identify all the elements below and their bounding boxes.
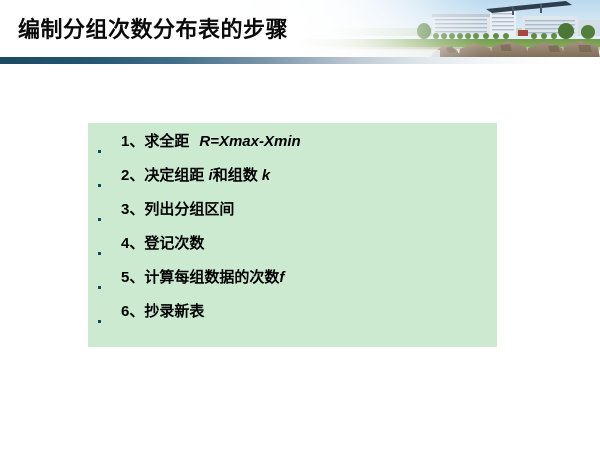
step-label: 求全距 [144, 133, 189, 150]
list-item: 4、登记次数 [88, 236, 497, 270]
bullet-icon [98, 320, 112, 323]
step-label: 决定组距 [144, 167, 204, 184]
step-label: 抄录新表 [144, 303, 204, 320]
bullet-icon [98, 184, 112, 187]
page-title: 编制分组次数分布表的步骤 [18, 19, 288, 41]
step-number: 5、 [121, 269, 144, 286]
list-item: 1、求全距R=Xmax-Xmin [88, 134, 497, 168]
list-item: 5、计算每组数据的次数f [88, 270, 497, 304]
step-number: 2、 [121, 167, 144, 184]
list-item: 3、列出分组区间 [88, 202, 497, 236]
list-item-text: 2、决定组距 i和组数 k [112, 168, 270, 183]
step-suffix: 和组数 [213, 167, 258, 184]
list-item: 6、抄录新表 [88, 304, 497, 338]
step-number: 4、 [121, 235, 144, 252]
step-formula: R=Xmax-Xmin [199, 133, 300, 150]
list-item-text: 5、计算每组数据的次数f [112, 270, 284, 285]
list-item-text: 6、抄录新表 [112, 304, 204, 319]
step-formula-2: k [262, 167, 270, 184]
step-label: 列出分组区间 [144, 201, 234, 218]
slide-canvas: 编制分组次数分布表的步骤 1、求全距R=Xmax-Xmin 2、决定组距 i和组… [0, 0, 600, 450]
list-item-text: 4、登记次数 [112, 236, 204, 251]
step-label: 计算每组数据的次数 [144, 269, 279, 286]
list-item: 2、决定组距 i和组数 k [88, 168, 497, 202]
step-number: 6、 [121, 303, 144, 320]
steps-list: 1、求全距R=Xmax-Xmin 2、决定组距 i和组数 k 3、列出分组区间 … [88, 123, 497, 338]
step-label: 登记次数 [144, 235, 204, 252]
bullet-icon [98, 218, 112, 221]
steps-panel: 1、求全距R=Xmax-Xmin 2、决定组距 i和组数 k 3、列出分组区间 … [88, 123, 497, 347]
list-item-text: 3、列出分组区间 [112, 202, 234, 217]
bullet-icon [98, 252, 112, 255]
bullet-icon [98, 150, 112, 153]
header-divider-rule [0, 57, 600, 64]
step-formula: f [279, 269, 284, 286]
step-number: 3、 [121, 201, 144, 218]
step-number: 1、 [121, 133, 144, 150]
list-item-text: 1、求全距R=Xmax-Xmin [112, 134, 301, 149]
slide-header: 编制分组次数分布表的步骤 [0, 0, 600, 64]
bullet-icon [98, 286, 112, 289]
